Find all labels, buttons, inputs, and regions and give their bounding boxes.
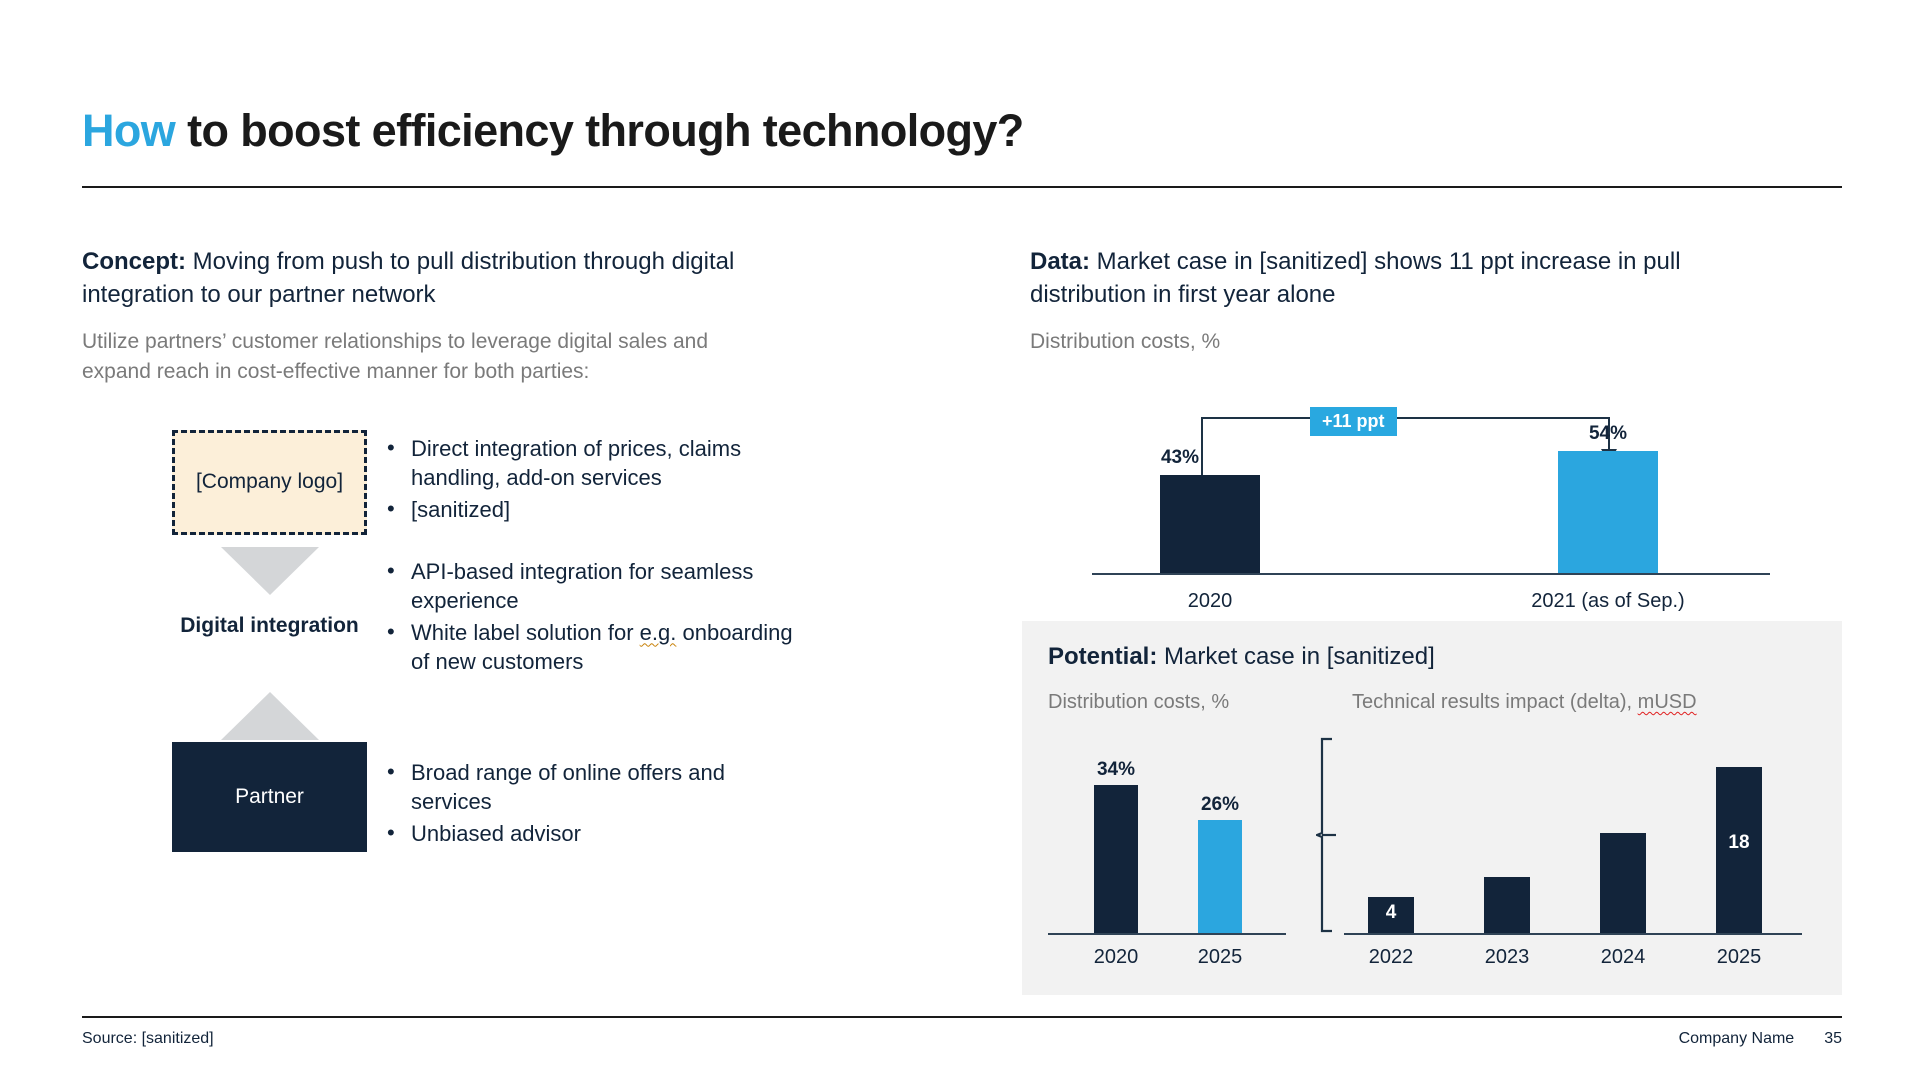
potential-heading: Potential: Market case in [sanitized] — [1048, 643, 1814, 671]
bullets-company: Direct integration of prices, claims han… — [347, 430, 902, 526]
potential-text: Market case in [sanitized] — [1157, 643, 1434, 670]
bullets-integration: API-based integration for seamless exper… — [347, 553, 902, 678]
bar-value-2025-forecast: 26% — [1178, 794, 1262, 816]
company-logo-box: [Company logo] — [172, 430, 367, 535]
diagram-left-integration: Digital integration — [82, 613, 347, 639]
title-accent-word: How — [82, 105, 175, 156]
potential-label: Potential: — [1048, 643, 1157, 670]
bar-category-2021: 2021 (as of Sep.) — [1530, 590, 1686, 613]
chart-technical-results-impact: 4 2022 2023 2024 18 2025 — [1344, 733, 1814, 973]
potential-subcaptions: Distribution costs, % Technical results … — [1048, 691, 1814, 717]
spellcheck-word-musd: mUSD — [1638, 691, 1697, 713]
brace-icon — [1316, 737, 1338, 933]
list-item: API-based integration for seamless exper… — [385, 557, 811, 616]
potential-caption-right: Technical results impact (delta), mUSD — [1352, 691, 1697, 714]
diagram-left-company: [Company logo] — [82, 430, 347, 535]
footer-source: Source: [sanitized] — [82, 1030, 214, 1048]
bar-category-2020-forecast: 2020 — [1074, 946, 1158, 969]
potential-panel-inner: Potential: Market case in [sanitized] Di… — [1022, 621, 1842, 995]
bar-category-2025-impact: 2025 — [1703, 946, 1775, 969]
footer-right: Company Name 35 — [1679, 1030, 1842, 1048]
connector-horizontal — [1201, 417, 1610, 419]
mini-axis-line-left — [1048, 933, 1286, 935]
concept-heading: Concept: Moving from push to pull distri… — [82, 245, 782, 311]
right-column: Data: Market case in [sanitized] shows 1… — [1030, 245, 1842, 621]
potential-caption-left: Distribution costs, % — [1048, 691, 1229, 714]
list-item: Unbiased advisor — [385, 819, 811, 848]
data-heading: Data: Market case in [sanitized] shows 1… — [1030, 245, 1770, 311]
bar-category-2023-impact: 2023 — [1471, 946, 1543, 969]
bar-category-2024-impact: 2024 — [1587, 946, 1659, 969]
digital-integration-label: Digital integration — [172, 613, 367, 639]
diagram-row-integration: Digital integration API-based integratio… — [82, 613, 902, 678]
spellcheck-word-eg: e.g. — [640, 620, 677, 645]
bar-category-2025-forecast: 2025 — [1178, 946, 1262, 969]
left-column: Concept: Moving from push to pull distri… — [82, 245, 882, 386]
flow-diagram: [Company logo] Direct integration of pri… — [82, 430, 902, 852]
caption-right-pre: Technical results impact (delta), — [1352, 691, 1638, 713]
concept-subtitle: Utilize partners’ customer relationships… — [82, 327, 782, 386]
bar-2021 — [1558, 451, 1658, 573]
bar-2023-impact — [1484, 877, 1530, 933]
bar-value-2022-impact: 4 — [1368, 902, 1414, 924]
page-number: 35 — [1824, 1030, 1842, 1048]
footer: Source: [sanitized] Company Name 35 — [82, 1030, 1842, 1048]
bar-value-2020-forecast: 34% — [1074, 759, 1158, 781]
mini-axis-line-right — [1344, 933, 1802, 935]
list-item: Broad range of online offers and service… — [385, 758, 811, 817]
title-rest: to boost efficiency through technology? — [175, 105, 1024, 156]
diagram-left-partner: Partner — [82, 742, 347, 852]
title-divider — [82, 186, 1842, 188]
chart-distribution-costs-forecast: 34% 2020 26% 2025 — [1048, 733, 1308, 973]
list-item: Direct integration of prices, claims han… — [385, 434, 811, 493]
data-text: Market case in [sanitized] shows 11 ppt … — [1030, 248, 1681, 308]
partner-box: Partner — [172, 742, 367, 852]
title-block: How to boost efficiency through technolo… — [82, 108, 1842, 153]
bullets-partner: Broad range of online offers and service… — [347, 754, 902, 850]
potential-panel: Potential: Market case in [sanitized] Di… — [1022, 621, 1842, 995]
bar-2020 — [1160, 475, 1260, 573]
list-item: White label solution for e.g. onboarding… — [385, 618, 811, 677]
list-item: [sanitized] — [385, 495, 811, 524]
bullet-text-pre: White label solution for — [411, 620, 640, 645]
data-label: Data: — [1030, 248, 1090, 275]
bar-value-2020: 43% — [1130, 447, 1230, 469]
bar-value-2021: 54% — [1558, 423, 1658, 445]
bar-category-2020: 2020 — [1160, 590, 1260, 613]
slide-canvas: How to boost efficiency through technolo… — [0, 0, 1920, 1078]
brace-connector — [1316, 737, 1338, 933]
bar-2025-forecast — [1198, 820, 1242, 933]
arrow-down-shape — [172, 547, 367, 595]
bar-value-2025-impact: 18 — [1716, 832, 1762, 854]
bar-category-2022-impact: 2022 — [1355, 946, 1427, 969]
data-axis-caption: Distribution costs, % — [1030, 327, 1730, 356]
chart-axis-line — [1092, 573, 1770, 575]
diagram-row-company: [Company logo] Direct integration of pri… — [82, 430, 902, 535]
arrow-up-shape — [172, 692, 367, 740]
concept-label: Concept: — [82, 248, 186, 275]
footer-company-name: Company Name — [1679, 1030, 1795, 1048]
diagram-row-partner: Partner Broad range of online offers and… — [82, 742, 902, 852]
bar-2024-impact — [1600, 833, 1646, 933]
bar-2020-forecast — [1094, 785, 1138, 933]
chart-distribution-costs: +11 ppt 43% 2020 54% 2021 (as of Sep.) — [1030, 381, 1790, 621]
footer-divider — [82, 1016, 1842, 1018]
delta-badge: +11 ppt — [1310, 407, 1397, 436]
page-title: How to boost efficiency through technolo… — [82, 108, 1842, 153]
